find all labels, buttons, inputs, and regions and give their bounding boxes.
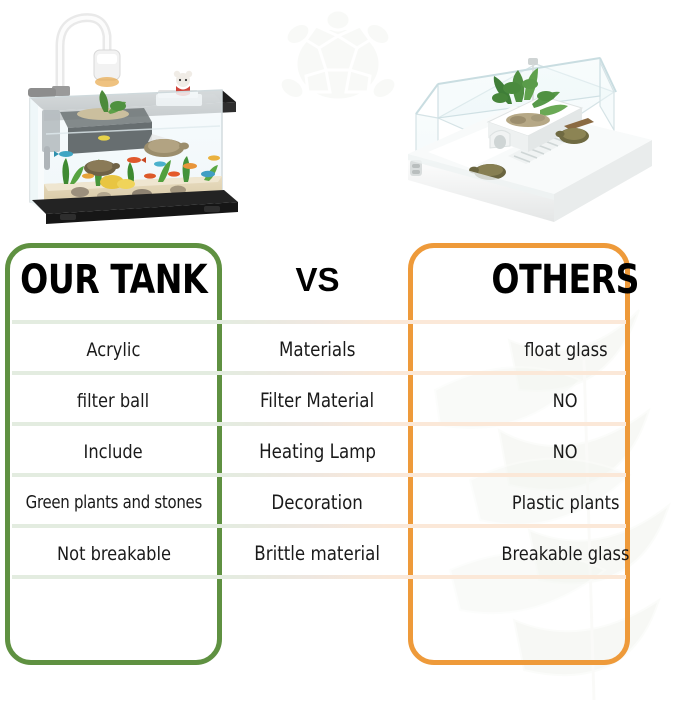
our-tank-title: OUR TANK <box>20 257 207 303</box>
row-2-feature: Filter Material <box>260 389 374 412</box>
others-title: OTHERS <box>492 257 640 303</box>
cell-others-value: NO <box>452 375 679 426</box>
table-row: Include Heating Lamp NO <box>0 426 679 477</box>
row-1-others: float glass <box>524 339 607 361</box>
row-4-feature: Decoration <box>272 491 363 514</box>
header-cell-ours: OUR TANK <box>0 240 227 320</box>
cell-feature-label: Decoration <box>227 477 408 528</box>
table-row: filter ball Filter Material NO <box>0 375 679 426</box>
table-row: Acrylic Materials float glass <box>0 324 679 375</box>
row-2-others: NO <box>553 390 578 412</box>
row-5-others: Breakable glass <box>501 543 629 565</box>
row-3-ours: Include <box>84 441 143 463</box>
cell-ours-value: Acrylic <box>0 324 227 375</box>
row-1-ours: Acrylic <box>87 339 141 361</box>
row-3-feature: Heating Lamp <box>259 440 376 463</box>
vs-label: VS <box>295 261 339 299</box>
header-cell-others: OTHERS <box>452 240 679 320</box>
comparison-grid: OUR TANK VS OTHERS Acrylic Materials flo… <box>0 240 679 680</box>
cell-feature-label: Filter Material <box>227 375 408 426</box>
comparison-header-row: OUR TANK VS OTHERS <box>0 240 679 320</box>
row-5-ours: Not breakable <box>56 543 170 565</box>
row-4-others: Plastic plants <box>512 492 620 514</box>
cell-ours-value: Include <box>0 426 227 477</box>
cell-ours-value: filter ball <box>0 375 227 426</box>
cell-ours-value: Not breakable <box>0 528 227 579</box>
cell-feature-label: Heating Lamp <box>227 426 408 477</box>
others-product-photo <box>404 44 672 230</box>
our-tank-product-photo <box>8 6 272 230</box>
cell-others-value: Plastic plants <box>452 477 679 528</box>
cell-feature-label: Brittle material <box>227 528 408 579</box>
header-cell-vs: VS <box>227 240 408 320</box>
table-row: Green plants and stones Decoration Plast… <box>0 477 679 528</box>
comparison-section: OUR TANK VS OTHERS Acrylic Materials flo… <box>0 240 679 680</box>
table-row: Not breakable Brittle material Breakable… <box>0 528 679 579</box>
cell-others-value: float glass <box>452 324 679 375</box>
row-1-feature: Materials <box>279 338 355 361</box>
row-5-feature: Brittle material <box>255 542 381 565</box>
cell-ours-value: Green plants and stones <box>0 477 227 528</box>
cell-feature-label: Materials <box>227 324 408 375</box>
product-photos <box>0 0 679 240</box>
cell-others-value: Breakable glass <box>452 528 679 579</box>
row-3-others: NO <box>553 441 578 463</box>
row-4-ours: Green plants and stones <box>25 493 201 513</box>
cell-others-value: NO <box>452 426 679 477</box>
row-2-ours: filter ball <box>77 390 149 412</box>
